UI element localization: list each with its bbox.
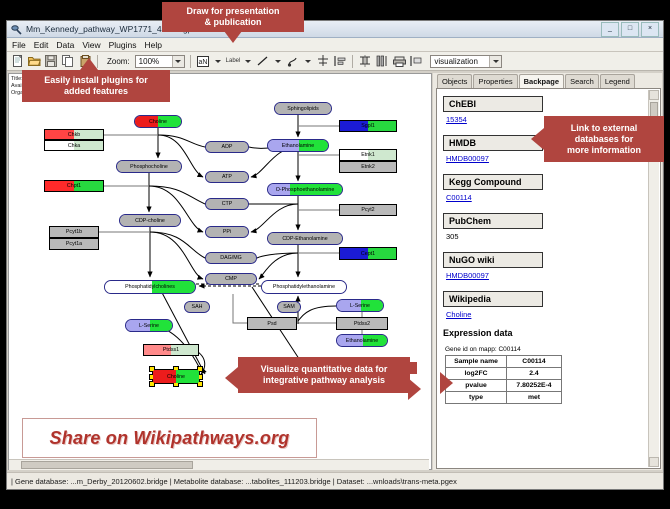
callout-draw: Draw for presentation & publication bbox=[162, 2, 304, 32]
pathway-node[interactable]: Phosphatidylethanolamine bbox=[261, 280, 347, 294]
screenshot-root: Mm_Kennedy_pathway_WP1771_45176.gpml _ □… bbox=[0, 0, 670, 509]
callout-visualize: Visualize quantitative data for integrat… bbox=[238, 357, 410, 393]
table-cell-key: log2FC bbox=[446, 368, 507, 380]
node-fill-left bbox=[275, 103, 331, 114]
status-bar: | Gene database: ...m_Derby_20120602.bri… bbox=[7, 472, 663, 489]
pathway-node[interactable]: Cept1 bbox=[339, 247, 397, 260]
node-fill-left bbox=[185, 302, 209, 312]
menu-item-plugins[interactable]: Plugins bbox=[109, 40, 137, 50]
canvas-hscroll-thumb[interactable] bbox=[21, 461, 193, 469]
selected-pathway-node[interactable]: Choline bbox=[152, 369, 200, 384]
callout-link-line2: databases for bbox=[575, 134, 634, 145]
pathway-node[interactable]: Sphingolipids bbox=[274, 102, 332, 115]
callout-visualize-arrow-right bbox=[408, 378, 421, 400]
backpage-section-header: Kegg Compound bbox=[443, 174, 543, 190]
zoom-value: 100% bbox=[139, 57, 159, 66]
pathway-node[interactable]: ATP bbox=[205, 171, 249, 183]
pathway-node[interactable]: PPi bbox=[205, 226, 249, 238]
node-fill-right bbox=[368, 121, 396, 131]
canvas-horizontal-scrollbar[interactable] bbox=[9, 459, 429, 470]
minimize-button[interactable]: _ bbox=[601, 22, 619, 37]
pathway-node[interactable]: Pcyt1a bbox=[49, 238, 99, 250]
callout-visualize-tag-right bbox=[410, 362, 417, 374]
node-fill-right bbox=[361, 300, 383, 311]
close-button[interactable]: × bbox=[641, 22, 659, 37]
table-cell-value: met bbox=[507, 392, 562, 404]
pathway-node[interactable]: ADP bbox=[205, 141, 249, 153]
table-cell-value: C00114 bbox=[507, 356, 562, 368]
zoom-label: Zoom: bbox=[107, 57, 130, 66]
node-fill-right bbox=[74, 181, 103, 191]
node-fill-right bbox=[299, 140, 328, 151]
backpage-section-header: ChEBI bbox=[443, 96, 543, 112]
title-bar: Mm_Kennedy_pathway_WP1771_45176.gpml _ □… bbox=[7, 21, 663, 38]
callout-expression-arrow bbox=[440, 372, 453, 394]
node-fill-left bbox=[105, 281, 152, 293]
pathway-node[interactable]: Chka bbox=[44, 140, 104, 151]
callout-plugins-line2: added features bbox=[64, 86, 128, 97]
pathway-node[interactable]: L-Serine bbox=[336, 299, 384, 312]
node-fill-left bbox=[337, 318, 387, 329]
node-fill-left bbox=[126, 320, 150, 331]
callout-link-line1: Link to external bbox=[571, 123, 638, 134]
pathway-node[interactable]: Etnk2 bbox=[339, 161, 397, 173]
panel-tabs: ObjectsPropertiesBackpageSearchLegend bbox=[433, 73, 662, 88]
expression-data-table: Sample nameC00114log2FC2.4pvalue7.80252E… bbox=[445, 355, 562, 404]
menu-item-file[interactable]: File bbox=[12, 40, 26, 50]
pathway-node[interactable]: Phosphocholine bbox=[116, 160, 182, 173]
node-fill-left bbox=[45, 141, 74, 150]
node-fill-left bbox=[206, 253, 256, 263]
maximize-button[interactable]: □ bbox=[621, 22, 639, 37]
svg-text:aN: aN bbox=[198, 59, 207, 66]
callout-link-line3: more information bbox=[567, 145, 641, 156]
menu-item-view[interactable]: View bbox=[82, 40, 100, 50]
gene-id-line: Gene id on mapp: C00114 bbox=[445, 346, 648, 353]
distribute-icon[interactable] bbox=[358, 54, 372, 69]
node-fill-right bbox=[368, 150, 396, 160]
pathway-node[interactable]: CDP-Ethanolamine bbox=[267, 232, 343, 245]
new-file-icon[interactable] bbox=[10, 54, 24, 69]
toolbar-separator-3 bbox=[352, 55, 353, 68]
tab-objects[interactable]: Objects bbox=[437, 74, 472, 88]
pathway-node[interactable]: L-Serine bbox=[125, 319, 173, 332]
backpage-external-link[interactable]: Choline bbox=[446, 310, 648, 319]
node-fill-left bbox=[340, 162, 396, 172]
align-icon[interactable] bbox=[316, 54, 330, 69]
backpage-section-header: NuGO wiki bbox=[443, 252, 543, 268]
interaction-dropdown-icon[interactable] bbox=[303, 54, 313, 69]
label-tool-label[interactable]: Label bbox=[226, 58, 241, 64]
scroll-up-button[interactable] bbox=[649, 90, 659, 100]
node-fill-left bbox=[268, 184, 290, 195]
callout-plugins-arrow bbox=[80, 58, 98, 70]
callout-draw-line1: Draw for presentation bbox=[186, 6, 279, 17]
table-cell-value: 2.4 bbox=[507, 368, 562, 380]
node-fill-left bbox=[45, 181, 74, 191]
node-fill-right bbox=[290, 184, 342, 195]
pathway-node[interactable]: Chpt1 bbox=[44, 180, 104, 192]
callout-share: Share on Wikipathways.org bbox=[22, 418, 317, 458]
backpage-section-header: PubChem bbox=[443, 213, 543, 229]
callout-visualize-line1: Visualize quantitative data for bbox=[261, 364, 388, 375]
callout-visualize-arrow bbox=[225, 367, 238, 389]
zoom-combobox[interactable]: 100% bbox=[135, 55, 185, 68]
node-fill-right bbox=[74, 141, 103, 150]
callout-visualize-line2: integrative pathway analysis bbox=[263, 375, 385, 386]
node-fill-left bbox=[278, 302, 300, 312]
table-cell-key: pvalue bbox=[446, 380, 507, 392]
backpage-section-header: HMDB bbox=[443, 135, 543, 151]
pathway-node[interactable]: Psd bbox=[247, 317, 297, 330]
pathway-node[interactable]: Pcyt2 bbox=[339, 204, 397, 216]
anchor-icon[interactable] bbox=[333, 54, 347, 69]
pathway-node[interactable]: CDP-choline bbox=[119, 214, 181, 227]
callout-link: Link to external databases for more info… bbox=[544, 116, 664, 162]
node-fill-left bbox=[340, 248, 368, 259]
table-cell-key: Sample name bbox=[446, 356, 507, 368]
node-fill-left bbox=[337, 300, 361, 311]
node-fill-left bbox=[206, 142, 248, 152]
node-fill-right bbox=[74, 130, 103, 139]
node-fill-left bbox=[206, 227, 248, 237]
datanode-icon[interactable]: aN bbox=[196, 54, 210, 69]
node-fill-left bbox=[206, 274, 256, 284]
visualization-combobox[interactable]: visualization bbox=[430, 55, 502, 68]
callout-plugins-line1: Easily install plugins for bbox=[44, 75, 148, 86]
table-row: pvalue7.80252E-4 bbox=[446, 380, 562, 392]
backpage-section-header: Wikipedia bbox=[443, 291, 543, 307]
pathway-node[interactable]: Phosphatidylcholines bbox=[104, 280, 196, 294]
node-fill-left bbox=[268, 233, 342, 244]
node-fill-left bbox=[340, 150, 368, 160]
callout-draw-line2: & publication bbox=[205, 17, 262, 28]
menu-item-help[interactable]: Help bbox=[145, 40, 162, 50]
callout-link-arrow bbox=[531, 128, 544, 150]
tab-legend[interactable]: Legend bbox=[600, 74, 635, 88]
node-fill-left bbox=[135, 116, 158, 127]
table-row: log2FC2.4 bbox=[446, 368, 562, 380]
pathway-canvas[interactable]: Title: Availa Organi bbox=[8, 73, 432, 470]
node-fill-left bbox=[268, 140, 299, 151]
pathvisio-icon bbox=[11, 24, 22, 35]
copy-icon[interactable] bbox=[61, 54, 75, 69]
callout-share-text: Share on Wikipathways.org bbox=[50, 428, 290, 449]
pathway-node[interactable]: O-Phosphoethanolamine bbox=[267, 183, 343, 196]
stack-icon[interactable] bbox=[375, 54, 389, 69]
scroll-down-button[interactable] bbox=[649, 457, 659, 467]
menu-item-edit[interactable]: Edit bbox=[34, 40, 49, 50]
menu-item-data[interactable]: Data bbox=[56, 40, 74, 50]
order-icon[interactable] bbox=[409, 54, 423, 69]
status-text: | Gene database: ...m_Derby_20120602.bri… bbox=[11, 477, 457, 486]
table-row: Sample nameC00114 bbox=[446, 356, 562, 368]
visualization-value: visualization bbox=[434, 57, 478, 66]
pathway-node[interactable]: Etnk1 bbox=[339, 149, 397, 161]
node-fill-left bbox=[206, 199, 248, 209]
node-fill-right bbox=[368, 248, 396, 259]
node-fill-left bbox=[153, 370, 176, 383]
callout-draw-arrow bbox=[224, 31, 242, 43]
backpage-value: 305 bbox=[446, 232, 648, 241]
toolbar: Zoom: 100% aN Label bbox=[7, 52, 663, 71]
node-fill-left bbox=[117, 161, 181, 172]
pathway-node[interactable]: Ethanolamine bbox=[336, 334, 388, 347]
pathway-node[interactable]: Ptdss2 bbox=[336, 317, 388, 330]
node-fill-right bbox=[363, 335, 387, 346]
node-fill-left bbox=[120, 215, 180, 226]
toolbar-separator-2 bbox=[190, 55, 191, 68]
node-fill-right bbox=[171, 345, 198, 355]
node-fill-left bbox=[337, 335, 363, 346]
callout-plugins: Easily install plugins for added feature… bbox=[22, 70, 170, 102]
window-controls[interactable]: _ □ × bbox=[601, 22, 659, 37]
table-cell-key: type bbox=[446, 392, 507, 404]
pathway-node[interactable]: Choline bbox=[134, 115, 182, 128]
save-icon[interactable] bbox=[44, 54, 58, 69]
pathway-node[interactable]: CMP bbox=[205, 273, 257, 285]
node-fill-right bbox=[150, 320, 172, 331]
pathway-node[interactable]: SAH bbox=[184, 301, 210, 313]
datanode-dropdown-icon[interactable] bbox=[213, 54, 223, 69]
pathway-node[interactable]: SAM bbox=[277, 301, 301, 313]
pathway-node[interactable]: DAG/MG bbox=[205, 252, 257, 264]
backpage-external-link[interactable]: C00114 bbox=[446, 193, 648, 202]
expression-data-title: Expression data bbox=[443, 328, 648, 338]
tab-search[interactable]: Search bbox=[565, 74, 599, 88]
node-fill-right bbox=[152, 281, 195, 293]
node-fill-left bbox=[50, 239, 98, 249]
table-cell-value: 7.80252E-4 bbox=[507, 380, 562, 392]
open-folder-icon[interactable] bbox=[27, 54, 41, 69]
node-fill-left bbox=[248, 318, 296, 329]
node-fill-left bbox=[340, 121, 368, 131]
print-icon[interactable] bbox=[392, 54, 406, 69]
node-fill-left bbox=[340, 205, 396, 215]
pathway-node[interactable]: Pcyt1b bbox=[49, 226, 99, 238]
node-fill-left bbox=[262, 281, 346, 293]
node-fill-left bbox=[206, 172, 248, 182]
pathway-node[interactable]: Sgpl1 bbox=[339, 120, 397, 132]
node-fill-left bbox=[144, 345, 171, 355]
interaction-icon[interactable] bbox=[286, 54, 300, 69]
pathway-node[interactable]: Ethanolamine bbox=[267, 139, 329, 152]
backpage-external-link[interactable]: HMDB00097 bbox=[446, 271, 648, 280]
pathway-node[interactable]: Ptdss1 bbox=[143, 344, 199, 356]
chevron-down-icon[interactable] bbox=[172, 56, 184, 67]
menu-bar: File Edit Data View Plugins Help bbox=[7, 38, 663, 52]
node-fill-right bbox=[158, 116, 181, 127]
pathway-node[interactable]: CTP bbox=[205, 198, 249, 210]
tab-properties[interactable]: Properties bbox=[473, 74, 517, 88]
node-fill-left bbox=[50, 227, 98, 237]
label-dropdown-icon[interactable] bbox=[243, 54, 253, 69]
line-dropdown-icon[interactable] bbox=[273, 54, 283, 69]
table-row: typemet bbox=[446, 392, 562, 404]
line-icon[interactable] bbox=[256, 54, 270, 69]
visualization-chevron-down-icon[interactable] bbox=[489, 56, 501, 67]
tab-backpage[interactable]: Backpage bbox=[519, 74, 564, 89]
node-fill-left bbox=[45, 130, 74, 139]
node-fill-right bbox=[176, 370, 199, 383]
pathway-node[interactable]: Chkb bbox=[44, 129, 104, 140]
